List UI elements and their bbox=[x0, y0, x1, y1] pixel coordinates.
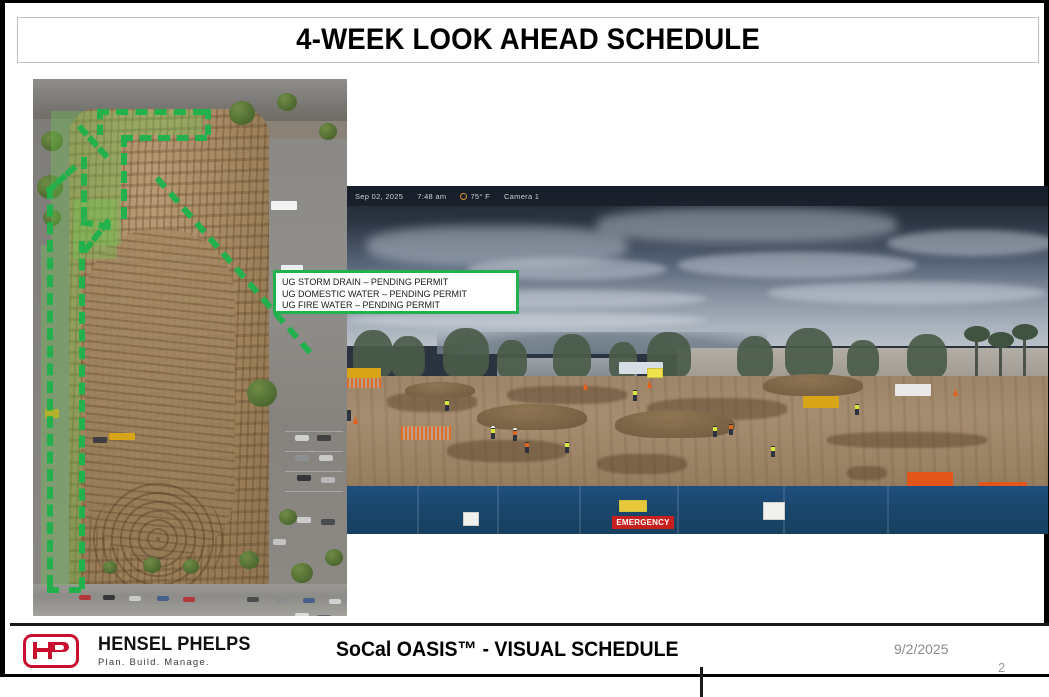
palm-tree bbox=[1012, 324, 1038, 340]
fence-panel-divider bbox=[417, 486, 419, 534]
brand-name: HENSEL PHELPS bbox=[98, 634, 251, 656]
worker-vest bbox=[771, 447, 775, 451]
aerial-car bbox=[247, 597, 259, 602]
aerial-tree bbox=[319, 123, 337, 140]
tree bbox=[785, 328, 833, 378]
fence-panel-divider bbox=[579, 486, 581, 534]
aerial-tree bbox=[183, 559, 199, 574]
aerial-car bbox=[295, 455, 309, 461]
aerial-car bbox=[295, 435, 309, 441]
worker-vest bbox=[513, 431, 517, 435]
aerial-tree bbox=[229, 101, 255, 125]
tree bbox=[907, 334, 947, 378]
warning-sign bbox=[619, 500, 647, 512]
tree bbox=[553, 334, 591, 378]
aerial-car bbox=[321, 519, 335, 525]
cloud bbox=[767, 282, 1047, 304]
aerial-car bbox=[277, 598, 289, 603]
fence-panel-divider bbox=[677, 486, 679, 534]
footer-project-title: SoCal OASIS™ - VISUAL SCHEDULE bbox=[336, 638, 679, 662]
soil-mound bbox=[615, 410, 735, 438]
aerial-car bbox=[129, 596, 141, 601]
aerial-car bbox=[321, 477, 335, 483]
safety-sign bbox=[763, 502, 785, 520]
emergency-sign: EMERGENCY bbox=[612, 516, 674, 529]
soil-mound bbox=[405, 382, 475, 398]
work-zone-edge bbox=[79, 241, 85, 589]
brand-tagline: Plan. Build. Manage. bbox=[98, 657, 259, 668]
footer-page-number: 2 bbox=[998, 660, 1005, 675]
aerial-parking-stripe bbox=[285, 491, 343, 492]
aerial-tree bbox=[325, 549, 343, 566]
aerial-car bbox=[297, 475, 311, 481]
aerial-equipment bbox=[109, 433, 135, 440]
fence-panel-divider bbox=[887, 486, 889, 534]
tree bbox=[391, 336, 425, 378]
safety-sign bbox=[463, 512, 479, 526]
worker-vest bbox=[491, 429, 495, 433]
worker-vest bbox=[633, 391, 637, 395]
worker-vest bbox=[855, 405, 859, 409]
construction-site-photo: EMERGENCY Sep 02, 2025 7:48 am 75° F Cam… bbox=[347, 186, 1048, 534]
traffic-cone bbox=[647, 380, 652, 388]
excavator bbox=[803, 396, 839, 408]
dump-truck bbox=[895, 384, 931, 396]
aerial-parking-stripe bbox=[285, 431, 343, 432]
aerial-car bbox=[303, 598, 315, 603]
work-zone-edge bbox=[47, 587, 81, 593]
aerial-car bbox=[319, 455, 333, 461]
work-zone-edge bbox=[47, 187, 53, 587]
aerial-car bbox=[183, 597, 195, 602]
worker-vest bbox=[525, 443, 529, 447]
traffic-cone bbox=[353, 416, 358, 424]
excavation-pit bbox=[827, 432, 987, 448]
work-zone-edge bbox=[205, 109, 211, 135]
slide-page: 4-WEEK LOOK AHEAD SCHEDULE bbox=[0, 0, 1049, 677]
excavation-pit bbox=[597, 454, 687, 474]
aerial-car bbox=[297, 517, 311, 523]
treeline bbox=[347, 326, 1048, 382]
callout-line-storm-drain: UG STORM DRAIN – PENDING PERMIT bbox=[282, 277, 516, 289]
camera-time: 7:48 am bbox=[417, 192, 446, 201]
aerial-tree bbox=[277, 93, 297, 111]
aerial-car bbox=[317, 615, 331, 616]
work-zone-edge bbox=[97, 109, 103, 135]
aerial-parking-stripe bbox=[285, 451, 343, 452]
excavation-pit bbox=[847, 466, 887, 480]
orange-safety-fence bbox=[347, 378, 381, 388]
fence-panel-divider bbox=[497, 486, 499, 534]
worker-vest bbox=[713, 427, 717, 431]
footer-separator bbox=[700, 667, 703, 697]
tree bbox=[443, 328, 489, 378]
excavator bbox=[347, 368, 381, 378]
permit-callout-box: UG STORM DRAIN – PENDING PERMIT UG DOMES… bbox=[273, 270, 519, 314]
aerial-car bbox=[79, 595, 91, 600]
aerial-car bbox=[295, 613, 309, 616]
work-zone-edge bbox=[121, 135, 207, 141]
callout-line-domestic-water: UG DOMESTIC WATER – PENDING PERMIT bbox=[282, 289, 516, 301]
yellow-sign bbox=[647, 368, 663, 378]
cloud bbox=[597, 208, 897, 242]
aerial-tree bbox=[239, 551, 259, 569]
tree bbox=[497, 340, 527, 378]
worker-vest bbox=[445, 401, 449, 405]
hensel-phelps-logo-icon bbox=[23, 634, 79, 668]
worker-helmet bbox=[513, 428, 517, 430]
camera-date: Sep 02, 2025 bbox=[355, 192, 403, 201]
callout-line-fire-water: UG FIRE WATER – PENDING PERMIT bbox=[282, 300, 516, 312]
aerial-car bbox=[157, 596, 169, 601]
perimeter-fence bbox=[347, 486, 1048, 534]
aerial-equipment bbox=[93, 437, 107, 443]
aerial-tree bbox=[103, 561, 117, 574]
aerial-car bbox=[273, 539, 286, 545]
aerial-car bbox=[317, 435, 331, 441]
page-title-box: 4-WEEK LOOK AHEAD SCHEDULE bbox=[17, 17, 1039, 63]
excavation-pit bbox=[447, 440, 567, 462]
aerial-tree bbox=[143, 557, 161, 573]
sun-icon bbox=[460, 193, 467, 200]
aerial-track-swirl bbox=[93, 479, 223, 599]
cloud bbox=[887, 230, 1048, 256]
site-aerial-photo bbox=[33, 79, 347, 616]
work-zone-edge bbox=[81, 157, 87, 219]
palm-tree bbox=[988, 332, 1014, 348]
aerial-tree bbox=[291, 563, 313, 583]
work-zone-edge bbox=[97, 109, 205, 115]
aerial-car bbox=[329, 599, 341, 604]
soil-mound bbox=[763, 374, 863, 396]
orange-safety-fence bbox=[401, 426, 451, 440]
aerial-tree bbox=[279, 509, 297, 525]
excavation-pit bbox=[507, 386, 627, 404]
brand-block: HENSEL PHELPS Plan. Build. Manage. bbox=[98, 634, 259, 668]
palm-tree bbox=[964, 326, 990, 342]
work-zone-edge bbox=[121, 135, 127, 219]
page-title: 4-WEEK LOOK AHEAD SCHEDULE bbox=[296, 23, 760, 57]
aerial-parking-stripe bbox=[285, 471, 343, 472]
footer-date: 9/2/2025 bbox=[894, 641, 949, 657]
worker-vest bbox=[565, 443, 569, 447]
camera-temperature-group: 75° F bbox=[460, 192, 490, 201]
traffic-cone bbox=[953, 388, 958, 396]
worker-helmet bbox=[491, 426, 495, 428]
tree bbox=[737, 336, 773, 378]
cloud bbox=[677, 252, 917, 278]
tree bbox=[847, 340, 879, 378]
camera-label: Camera 1 bbox=[504, 192, 539, 201]
camera-overlay-bar: Sep 02, 2025 7:48 am 75° F Camera 1 bbox=[347, 186, 1048, 206]
aerial-car bbox=[103, 595, 115, 600]
slide-footer: HENSEL PHELPS Plan. Build. Manage. SoCal… bbox=[10, 626, 1049, 674]
worker-vest bbox=[729, 425, 733, 429]
camera-temperature: 75° F bbox=[470, 192, 490, 201]
worker bbox=[347, 410, 351, 421]
